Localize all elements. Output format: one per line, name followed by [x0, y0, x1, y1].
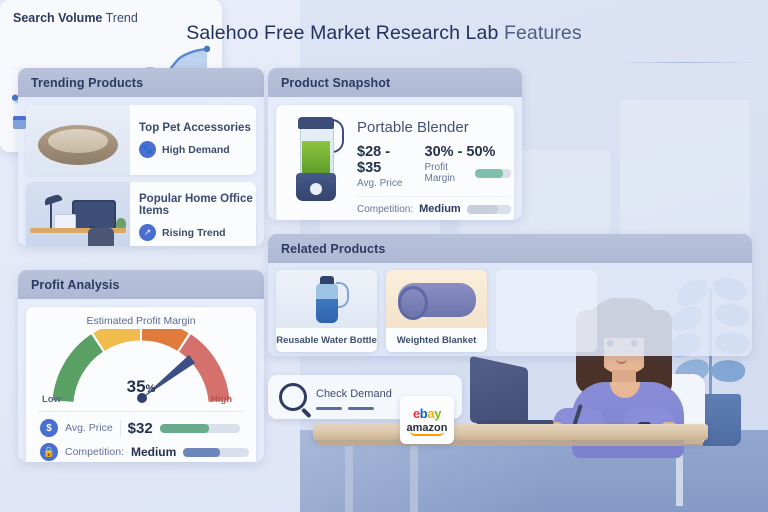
product-snapshot-panel: Product Snapshot Portable Blender $28 - … — [268, 68, 522, 220]
lamp-arm — [50, 202, 52, 228]
status-badge-label: Rising Trend — [162, 227, 226, 239]
related-product-label: Reusable Water Bottle — [276, 328, 377, 352]
list-item-label: Top Pet Accessories — [139, 122, 256, 134]
weighted-blanket-image — [386, 270, 487, 328]
divider — [38, 411, 244, 412]
related-products-grid: Reusable Water Bottle Weighted Blanket — [268, 263, 752, 356]
product-card[interactable]: Portable Blender $28 - $35 Avg. Price 30… — [276, 105, 514, 220]
pet-bed-inner — [48, 129, 108, 153]
blender-contents — [302, 141, 330, 174]
competition-value: Medium — [131, 445, 176, 459]
profit-gauge-card: Estimated Profit Margin — [26, 307, 256, 462]
divider — [120, 420, 121, 437]
profit-analysis-panel: Profit Analysis Estimated Profit Margin — [18, 270, 264, 462]
trend-up-icon: ↗ — [139, 224, 156, 241]
trending-products-panel: Trending Products Top Pet Accessories 🐾 … — [18, 68, 264, 246]
status-badge: 🐾 High Demand — [139, 141, 256, 158]
competition-row: Competition: Medium — [357, 196, 511, 215]
amazon-logo: amazon — [407, 422, 448, 434]
page-title-strong: Salehoo Free Market Research Lab — [186, 22, 498, 44]
margin-meter — [475, 169, 511, 178]
related-product-label: Weighted Blanket — [386, 328, 487, 352]
dollar-icon: $ — [40, 419, 58, 437]
list-item-info: Popular Home Office Items ↗ Rising Trend — [130, 193, 256, 241]
desk-leg — [345, 446, 353, 512]
blender-lid — [298, 117, 334, 129]
placeholder-lines — [316, 407, 392, 410]
product-stats: $28 - $35 Avg. Price 30% - 50% Profit Ma… — [357, 144, 511, 189]
competition-value: Medium — [419, 203, 461, 215]
screenshot-root: Salehoo Free Market Research Lab Feature… — [0, 0, 768, 512]
avg-price-row: $ Avg. Price $32 — [36, 416, 246, 440]
office-chair — [88, 228, 114, 246]
price-stat: $28 - $35 Avg. Price — [357, 144, 411, 189]
list-item[interactable]: Popular Home Office Items ↗ Rising Trend — [26, 182, 256, 246]
avg-price-value: $32 — [128, 420, 153, 437]
page-title-light: Features — [504, 22, 582, 44]
list-item-info: Top Pet Accessories 🐾 High Demand — [130, 122, 256, 158]
margin-stat: 30% - 50% Profit Margin — [425, 144, 511, 189]
related-products-title: Related Products — [268, 234, 752, 263]
trending-products-title: Trending Products — [18, 68, 264, 97]
check-demand-label: Check Demand — [316, 388, 392, 400]
desk-edge — [318, 440, 703, 446]
competition-row: 🔒 Competition: Medium — [36, 440, 246, 462]
portable-blender-image — [284, 113, 350, 205]
check-demand-text: Check Demand — [316, 384, 392, 410]
desk-leg — [410, 446, 418, 512]
list-item[interactable]: Top Pet Accessories 🐾 High Demand — [26, 105, 256, 175]
blanket-end — [398, 286, 428, 320]
header-divider — [615, 62, 755, 63]
avg-price-meter — [160, 424, 240, 433]
product-info: Portable Blender $28 - $35 Avg. Price 30… — [350, 113, 511, 215]
margin-value: 30% - 50% — [425, 144, 511, 160]
related-products-panel: Related Products Reusable Water Bottle W… — [268, 234, 752, 356]
lock-icon: 🔒 — [40, 443, 58, 461]
margin-label: Profit Margin — [425, 162, 469, 184]
list-item-label: Popular Home Office Items — [139, 193, 256, 217]
gauge-high-label: High — [211, 394, 232, 405]
marketplace-logos[interactable]: ebay amazon — [400, 396, 454, 444]
competition-label: Competition: — [357, 204, 413, 215]
water-bottle-image — [276, 270, 377, 328]
ebay-logo: ebay — [413, 406, 441, 421]
competition-meter — [467, 205, 511, 214]
status-badge: ↗ Rising Trend — [139, 224, 256, 241]
price-label: Avg. Price — [357, 178, 411, 189]
paw-icon: 🐾 — [139, 141, 156, 158]
page-title: Salehoo Free Market Research Lab Feature… — [0, 22, 768, 45]
price-value: $28 - $35 — [357, 144, 411, 176]
related-product-card[interactable]: Reusable Water Bottle — [276, 270, 377, 352]
empty-image — [496, 270, 597, 328]
gauge-low-label: Low — [42, 394, 61, 405]
bottle-cap — [320, 276, 334, 284]
magnifier-icon — [279, 383, 307, 411]
margin-label-row: Profit Margin — [425, 162, 511, 184]
trending-products-body: Top Pet Accessories 🐾 High Demand — [18, 97, 264, 246]
product-snapshot-title: Product Snapshot — [268, 68, 522, 97]
product-snapshot-body: Portable Blender $28 - $35 Avg. Price 30… — [268, 97, 522, 220]
calendar-icon — [13, 116, 26, 129]
avg-price-label: Avg. Price — [65, 422, 113, 434]
competition-meter — [183, 448, 249, 457]
status-badge-label: High Demand — [162, 144, 230, 156]
pet-bed-image — [26, 105, 130, 175]
profit-analysis-title: Profit Analysis — [18, 270, 264, 299]
related-product-label — [496, 328, 597, 352]
profit-analysis-body: Estimated Profit Margin — [18, 299, 264, 462]
desk-illustration — [313, 424, 708, 440]
product-name: Portable Blender — [357, 119, 511, 136]
blender-button — [310, 183, 322, 195]
competition-label: Competition: — [65, 446, 124, 458]
home-office-image — [26, 182, 130, 246]
profit-margin-gauge: 35% Low High — [36, 329, 246, 407]
bottle-body — [316, 283, 338, 323]
gauge-title: Estimated Profit Margin — [36, 315, 246, 327]
related-product-card[interactable]: Weighted Blanket — [386, 270, 487, 352]
plant-leaf — [710, 358, 747, 385]
related-product-card-empty[interactable] — [496, 270, 597, 352]
